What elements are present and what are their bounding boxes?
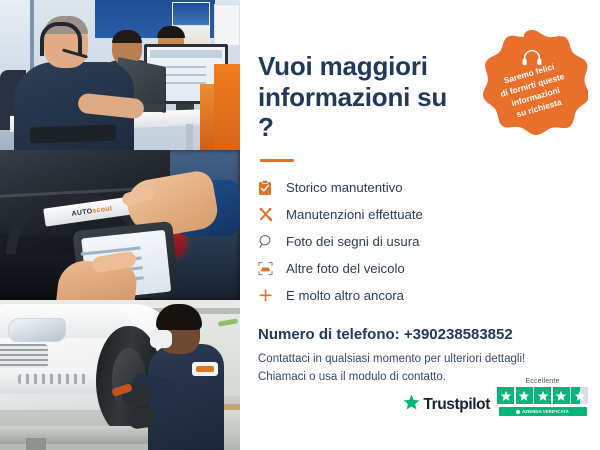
uniform-logo-badge	[192, 362, 218, 376]
magnifier-icon	[258, 233, 280, 251]
title-divider	[260, 159, 294, 162]
list-item-label: E molto altro ancora	[280, 288, 404, 303]
star-filled-icon	[534, 387, 551, 404]
trustpilot-rating[interactable]: Trustpilot Eccellente	[403, 378, 588, 416]
page-title-line-2: informazioni su ?	[258, 82, 447, 142]
advertisement-banner: AUTOscout	[0, 0, 600, 450]
photo-column: AUTOscout	[0, 0, 240, 450]
verified-business-label: AZIENDA VERIFICATA	[522, 409, 569, 414]
phone-label: Numero di telefono:	[258, 326, 400, 343]
trustpilot-score-block: Eccellente	[497, 378, 588, 416]
trustpilot-star-icon	[403, 394, 420, 416]
trustpilot-logo: Trustpilot	[403, 394, 490, 416]
headset-band-icon	[40, 22, 82, 56]
list-item-label: Storico manutentivo	[280, 180, 403, 195]
trustpilot-stars	[497, 387, 588, 404]
clipboard-check-icon	[258, 179, 280, 197]
star-filled-icon	[553, 387, 570, 404]
list-item: Storico manutentivo	[258, 174, 584, 201]
bumper-vent	[18, 374, 88, 384]
list-item: E molto altro ancora	[258, 282, 584, 309]
page-title-line-1: Vuoi maggiori	[258, 51, 428, 81]
monitor-screen-toolbar	[150, 50, 222, 58]
call-center-photo	[0, 0, 240, 150]
phone-number[interactable]: +390238583852	[404, 326, 513, 343]
contact-instructions-line-1: Contattaci in qualsiasi momento per ulte…	[258, 353, 525, 365]
verified-business-badge: AZIENDA VERIFICATA	[499, 407, 587, 416]
callout-badge: Saremo felici di fornirti queste informa…	[476, 28, 588, 140]
feature-list: Storico manutentivo Manutenzioni effettu…	[258, 174, 584, 309]
star-half-icon	[571, 387, 588, 404]
trustpilot-caption: Eccellente	[525, 378, 559, 385]
orange-divider-panel	[214, 64, 240, 150]
trustpilot-wordmark: Trustpilot	[423, 396, 490, 414]
desk-leg	[186, 124, 193, 150]
star-filled-icon	[497, 387, 514, 404]
list-item-label: Manutenzioni effettuate	[280, 207, 423, 222]
strip-brand-part-2: scout	[92, 205, 113, 215]
star-filled-icon	[516, 387, 533, 404]
phone-number-line[interactable]: Numero di telefono: +390238583852	[258, 326, 584, 343]
list-item: Manutenzioni effettuate	[258, 201, 584, 228]
car-inspection-photo: AUTOscout	[0, 150, 240, 300]
tools-cross-icon	[258, 206, 280, 224]
strip-brand-part-1: AUTO	[71, 207, 93, 217]
car-scan-frame-icon	[258, 260, 280, 278]
vehicle-lift-leg	[26, 438, 46, 450]
car-headlight	[8, 318, 66, 342]
list-item-label: Altre foto del veicolo	[280, 261, 405, 276]
wall-poster-secondary	[214, 4, 240, 46]
list-item-label: Foto dei segni di usura	[280, 234, 419, 249]
car-grille	[0, 344, 48, 368]
desk-mat	[30, 124, 116, 143]
page-title: Vuoi maggioriinformazioni su ?	[258, 51, 458, 141]
list-item: Altre foto del veicolo	[258, 255, 584, 282]
mechanic-face-mask	[150, 330, 172, 348]
check-circle-icon	[516, 410, 520, 414]
content-panel: Vuoi maggioriinformazioni su ? Storico m…	[240, 0, 600, 450]
plus-icon	[258, 287, 280, 305]
list-item: Foto dei segni di usura	[258, 228, 584, 255]
wheel-service-photo	[0, 300, 240, 450]
